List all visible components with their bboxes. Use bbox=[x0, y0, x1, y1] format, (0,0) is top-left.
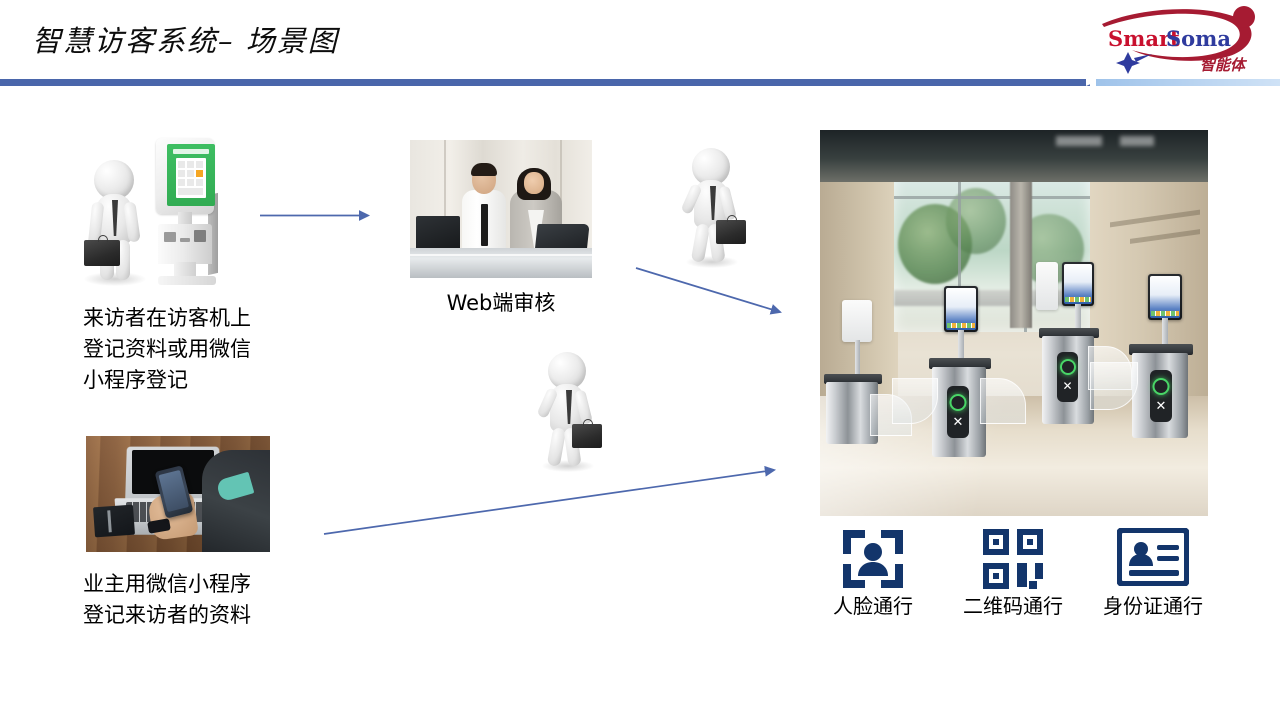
gate-deny-indicator: ✕ bbox=[1062, 380, 1072, 392]
office-man-hair bbox=[471, 163, 497, 176]
pass-mode-label: 二维码通行 bbox=[950, 590, 1076, 619]
office-man-tie bbox=[481, 204, 488, 246]
window-mullion bbox=[894, 196, 1090, 199]
kiosk-base bbox=[158, 276, 216, 285]
gate-status-indicator: ✕ bbox=[1150, 370, 1172, 422]
brand-logo: Smart Soma 智能体 bbox=[1092, 4, 1268, 76]
self-service-kiosk bbox=[150, 138, 222, 286]
figure-briefcase bbox=[716, 220, 746, 244]
gate-status-indicator: ✕ bbox=[1057, 352, 1078, 402]
keypad-key bbox=[178, 179, 185, 186]
keypad-key bbox=[178, 161, 185, 168]
pass-mode-row: 人脸通行 二维码通行 bbox=[820, 528, 1212, 640]
header-divider bbox=[0, 78, 1280, 87]
kiosk-screen bbox=[167, 144, 215, 206]
gate-sign-board bbox=[1036, 262, 1058, 310]
kiosk-card-reader bbox=[164, 232, 176, 242]
web-step-caption: Web端审核 bbox=[410, 288, 592, 319]
terminal-screen bbox=[1150, 276, 1180, 318]
gate-status-indicator: ✕ bbox=[947, 386, 969, 438]
pass-mode-label: 身份证通行 bbox=[1090, 590, 1216, 619]
keypad-key bbox=[196, 179, 203, 186]
wall-panel-line bbox=[1110, 210, 1200, 228]
office-woman-face bbox=[524, 172, 544, 194]
figure-briefcase bbox=[84, 240, 120, 266]
web-to-gate-arrow bbox=[634, 264, 794, 324]
gate-deny-indicator: ✕ bbox=[953, 416, 964, 429]
id-card-icon bbox=[1090, 528, 1216, 590]
kiosk-qr-scanner bbox=[194, 230, 206, 242]
gate-unit-4: ✕ bbox=[1132, 278, 1192, 438]
logo-star-ray bbox=[1134, 54, 1152, 62]
gate-pass-indicator bbox=[950, 394, 967, 411]
face-recognition-terminal bbox=[944, 286, 978, 332]
web-review-photo bbox=[410, 140, 592, 278]
keypad-key bbox=[187, 179, 194, 186]
page-title: 智慧访客系统– 场景图 bbox=[32, 18, 339, 60]
photo-notebook bbox=[93, 505, 135, 538]
owner-registration-photo bbox=[86, 436, 270, 552]
logo-brand-cn: 智能体 bbox=[1200, 56, 1248, 74]
owner-step-caption: 业主用微信小程序 登记来访者的资料 bbox=[83, 569, 313, 631]
office-monitor bbox=[416, 216, 460, 252]
gate-lobby-photo: ✕ ✕ ✕ bbox=[820, 130, 1208, 516]
logo-star-icon bbox=[1116, 52, 1140, 74]
keypad-key bbox=[187, 170, 194, 177]
keypad-key-highlight bbox=[196, 170, 203, 177]
kiosk-printer-slot bbox=[180, 238, 190, 242]
pass-mode-face[interactable]: 人脸通行 bbox=[820, 528, 926, 619]
kiosk-step-caption: 来访者在访客机上 登记资料或用微信 小程序登记 bbox=[83, 303, 303, 396]
keypad-key bbox=[178, 170, 185, 177]
owner-to-gate-arrow bbox=[322, 462, 786, 540]
keypad-key bbox=[196, 161, 203, 168]
divider-light-segment bbox=[1096, 79, 1280, 86]
figure-briefcase bbox=[572, 424, 602, 448]
lobby-pillar bbox=[1010, 178, 1032, 328]
logo-dot bbox=[1233, 6, 1255, 28]
face-recognition-terminal bbox=[1062, 262, 1094, 306]
gate-pedestal-1 bbox=[826, 308, 882, 444]
kiosk-screen-shell bbox=[156, 138, 214, 214]
face-recognition-terminal bbox=[1148, 274, 1182, 320]
visitor-figure-walking-upper bbox=[682, 148, 750, 270]
pass-mode-id[interactable]: 身份证通行 bbox=[1090, 528, 1216, 619]
gate-sign-board bbox=[842, 300, 872, 342]
pass-mode-label: 人脸通行 bbox=[820, 590, 926, 619]
face-scan-icon bbox=[820, 528, 926, 590]
kiosk-screen-keypad bbox=[176, 158, 206, 198]
ceiling-light bbox=[1056, 136, 1102, 146]
lobby-ceiling bbox=[820, 130, 1208, 182]
office-desk bbox=[410, 248, 592, 278]
logo-brand-second: Soma bbox=[1166, 26, 1231, 51]
pass-mode-qr[interactable]: 二维码通行 bbox=[950, 528, 1076, 619]
gate-deny-indicator: ✕ bbox=[1156, 400, 1167, 413]
gate-pass-indicator bbox=[1060, 359, 1076, 375]
terminal-screen bbox=[946, 288, 976, 330]
photo-person-torso bbox=[202, 450, 270, 552]
figure-shadow bbox=[84, 272, 146, 286]
logo-artwork: Smart Soma 智能体 bbox=[1092, 4, 1268, 76]
visitor-figure-walking-lower bbox=[538, 352, 606, 474]
kiosk-screen-titlebar bbox=[173, 149, 209, 154]
gate-unit-2: ✕ bbox=[932, 290, 990, 458]
ceiling-light bbox=[1120, 136, 1154, 146]
kiosk-body bbox=[158, 224, 212, 264]
keypad-key-wide bbox=[178, 188, 203, 195]
divider-dark-segment bbox=[0, 79, 1090, 86]
terminal-screen bbox=[1064, 264, 1092, 304]
wall-panel-line bbox=[1130, 229, 1200, 244]
visitor-figure-kiosk bbox=[82, 160, 158, 286]
kiosk-to-web-arrow bbox=[258, 205, 380, 227]
qr-code-icon bbox=[950, 528, 1076, 590]
kiosk-scene bbox=[82, 138, 242, 288]
keypad-key bbox=[187, 161, 194, 168]
slide-header: 智慧访客系统– 场景图 bbox=[0, 0, 1280, 80]
gate-pass-indicator bbox=[1153, 378, 1170, 395]
